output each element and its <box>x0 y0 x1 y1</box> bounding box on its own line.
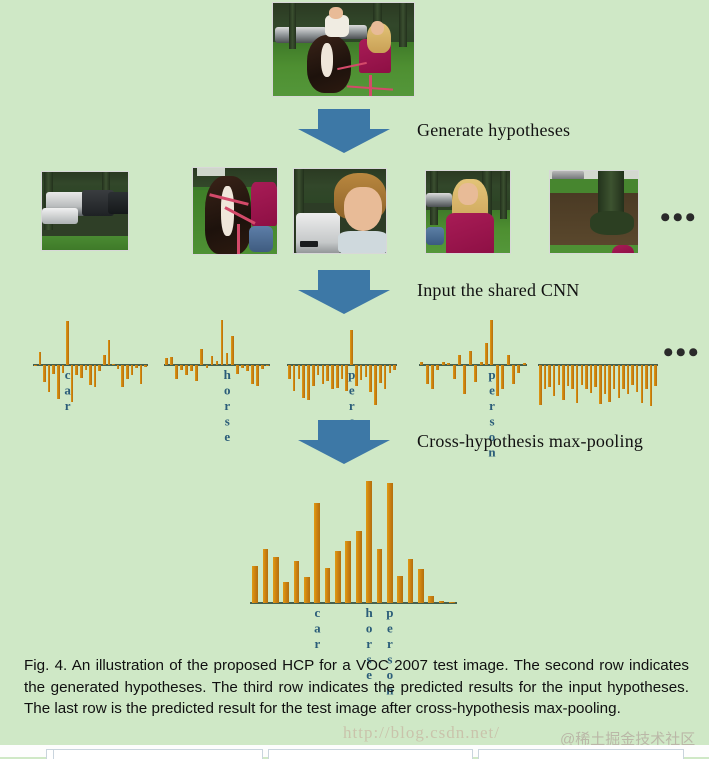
chart-bar <box>654 365 657 386</box>
chart-bar <box>252 566 258 604</box>
figure-canvas: Generate hypotheses <box>0 0 709 757</box>
chart-bar <box>89 365 92 385</box>
step-label-1: Generate hypotheses <box>417 120 570 141</box>
chart-bar <box>379 365 382 383</box>
chrome-box-4 <box>478 749 684 759</box>
chart-bar <box>135 365 138 368</box>
chart-bar <box>576 365 579 403</box>
chart-bar <box>48 365 51 392</box>
chart-bar <box>369 365 372 392</box>
chart-bar <box>360 365 363 380</box>
chart-bar <box>180 365 183 370</box>
chart-bar <box>241 365 244 368</box>
chart-bar <box>594 365 597 387</box>
chart-bar <box>317 365 320 375</box>
chart-bar <box>266 365 269 366</box>
chart-bar <box>298 365 301 379</box>
chart-bar <box>341 365 344 379</box>
chart-bar <box>103 355 106 365</box>
chart-bar <box>426 365 429 384</box>
chart-bar <box>449 602 455 603</box>
chart-bar <box>126 365 129 379</box>
chart-bar <box>420 362 423 365</box>
chart-bar <box>108 340 111 365</box>
chart-bar <box>553 365 556 396</box>
chart-bar <box>144 365 147 367</box>
chart-bar <box>384 365 387 389</box>
chart-baseline <box>250 602 457 604</box>
hypothesis-score-chart-1: car <box>33 318 148 412</box>
chart-bar <box>131 365 134 375</box>
chart-bar <box>377 549 383 603</box>
chart-bar <box>463 365 466 394</box>
chart-bar <box>345 541 351 604</box>
arrow-input-shared-cnn <box>296 268 392 316</box>
chart-bar <box>512 365 515 384</box>
chart-bar <box>43 365 46 382</box>
chart-bar <box>165 358 168 365</box>
chart-bar <box>39 352 42 365</box>
chart-class-label-car: car <box>311 605 322 652</box>
chart-class-label-car: car <box>62 367 73 414</box>
chart-bar <box>627 365 630 394</box>
chart-bar <box>517 365 520 373</box>
chart-bar <box>211 356 214 365</box>
chart-bar <box>75 365 78 375</box>
hypothesis-thumb-5 <box>549 170 639 254</box>
chart-bar <box>312 365 315 386</box>
input-image <box>272 2 415 97</box>
hypothesis-thumb-1 <box>41 171 129 251</box>
chart-bar <box>408 559 414 603</box>
chart-bar <box>251 365 254 384</box>
chart-bar <box>631 365 634 385</box>
chart-bar <box>480 362 483 365</box>
chart-bar <box>52 365 55 374</box>
chart-bar <box>263 549 269 603</box>
chart-bar <box>374 365 377 405</box>
chart-bar <box>200 349 203 365</box>
chart-bar <box>618 365 621 398</box>
chart-bar <box>544 365 547 389</box>
chart-bar <box>185 365 188 375</box>
chart-bar <box>256 365 259 386</box>
chart-bar <box>336 365 339 388</box>
chart-bar <box>365 365 368 377</box>
chrome-box-3 <box>268 749 473 759</box>
chart-bar <box>539 365 542 405</box>
chart-bar <box>389 365 392 373</box>
chart-bar <box>294 561 300 604</box>
chart-bar <box>548 365 551 387</box>
chart-bar <box>175 365 178 379</box>
chart-bar <box>226 353 229 365</box>
step-label-2: Input the shared CNN <box>417 280 579 301</box>
chart-bar <box>645 365 648 389</box>
chart-bar <box>236 365 239 374</box>
chart-bar <box>94 365 97 387</box>
chart-bar <box>393 365 396 370</box>
chart-bar <box>562 365 565 400</box>
chart-bar <box>261 365 264 369</box>
chart-baseline <box>419 364 527 366</box>
chart-bar <box>288 365 291 379</box>
chart-bar <box>613 365 616 389</box>
chart-bar <box>453 365 456 379</box>
chart-bar <box>283 582 289 603</box>
chart-bar <box>604 365 607 394</box>
chart-bar <box>195 365 198 381</box>
chart-bar <box>439 601 445 604</box>
chart-bar <box>206 365 209 368</box>
chart-bar <box>66 321 69 365</box>
chart-bar <box>428 596 434 604</box>
chart-bar <box>585 365 588 389</box>
chart-bar <box>85 365 88 370</box>
chart-bar <box>322 365 325 384</box>
chart-bar <box>34 365 37 366</box>
chart-bar <box>117 365 120 369</box>
bottom-chrome-strip <box>0 745 709 757</box>
arrow-cross-hypothesis-max-pooling <box>296 418 392 466</box>
hypotheses-ellipsis: ••• <box>660 203 698 233</box>
chart-bar <box>387 483 393 603</box>
chart-bar <box>170 357 173 365</box>
chart-bar <box>246 365 249 371</box>
chart-bar <box>112 364 115 365</box>
hypothesis-thumb-2 <box>192 167 278 255</box>
chart-bar <box>567 365 570 386</box>
chart-bar <box>447 363 450 365</box>
chart-bar <box>608 365 611 402</box>
chart-bar <box>431 365 434 389</box>
chart-bar <box>140 365 143 384</box>
chart-bar <box>474 365 477 382</box>
chart-bar <box>307 365 310 400</box>
chart-bar <box>121 365 124 387</box>
chart-bar <box>507 355 510 365</box>
chart-bar <box>436 365 439 370</box>
chart-bar <box>221 320 224 365</box>
chrome-box-2 <box>53 749 263 759</box>
chart-bar <box>581 365 584 385</box>
chart-bar <box>590 365 593 393</box>
hypothesis-score-chart-5 <box>538 318 658 412</box>
hypothesis-thumb-3 <box>293 168 387 254</box>
chart-bar <box>558 365 561 385</box>
chart-bar <box>366 481 372 604</box>
hypothesis-score-chart-3: person <box>287 318 397 412</box>
chart-bar <box>326 365 329 381</box>
chart-bar <box>231 336 234 365</box>
hypothesis-thumb-4 <box>425 170 511 254</box>
chart-bar <box>641 365 644 403</box>
chart-bar <box>57 365 60 399</box>
chart-bar <box>418 569 424 603</box>
chart-bar <box>302 365 305 398</box>
chart-bar <box>80 365 83 378</box>
hypothesis-score-chart-4: person <box>419 318 527 412</box>
chart-bar <box>469 351 472 365</box>
chart-bar <box>571 365 574 389</box>
hypothesis-score-chart-2: horse <box>164 318 270 412</box>
chart-bar <box>190 365 193 371</box>
arrow-generate-hypotheses <box>296 107 392 155</box>
chart-bar <box>331 365 334 389</box>
chart-bar <box>442 362 445 365</box>
chart-bar <box>599 365 602 404</box>
chart-bar <box>650 365 653 406</box>
step-label-3: Cross-hypothesis max-pooling <box>417 431 643 452</box>
chart-bar <box>458 355 461 365</box>
chart-bar <box>636 365 639 392</box>
chart-bar <box>325 568 331 603</box>
chart-bar <box>216 361 219 365</box>
max-pooled-result-chart: carhorseperson <box>250 478 457 603</box>
chart-bar <box>490 320 493 365</box>
chart-bar <box>98 365 101 371</box>
chart-bar <box>314 503 320 603</box>
chart-class-label-horse: horse <box>221 367 232 445</box>
scores-ellipsis: ••• <box>663 338 701 368</box>
chart-bar <box>356 531 362 604</box>
chart-bar <box>293 365 296 391</box>
chart-bar <box>397 576 403 604</box>
chart-bar <box>622 365 625 389</box>
chart-bar <box>335 551 341 604</box>
chart-bar <box>350 330 353 365</box>
figure-caption: Fig. 4. An illustration of the proposed … <box>24 655 689 720</box>
chart-bar <box>485 343 488 365</box>
watermark-url: http://blog.csdn.net/ <box>343 723 500 743</box>
chart-bar <box>523 363 526 365</box>
chart-bar <box>273 557 279 603</box>
chart-bar <box>304 577 310 603</box>
chart-bar <box>501 365 504 389</box>
